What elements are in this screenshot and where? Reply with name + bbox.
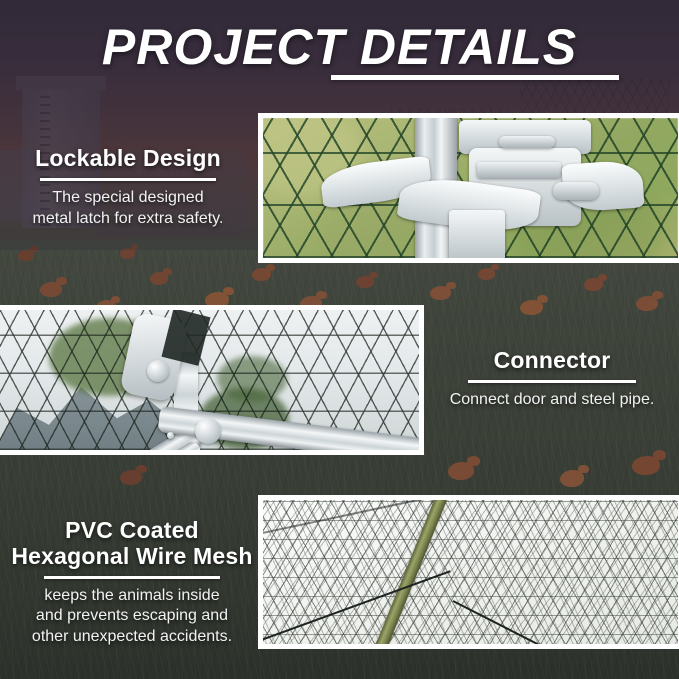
feature-body-line: The special designed — [12, 188, 244, 209]
feature-heading-underline — [40, 178, 216, 181]
title-underline — [331, 75, 619, 80]
feature-body-line: keeps the animals inside — [6, 586, 258, 607]
feature-body-line: and prevents escaping and — [6, 606, 258, 627]
latch-lock-arm — [499, 136, 555, 148]
photo-connector-content — [0, 310, 419, 450]
feature-heading-pvc-mesh-line1: PVC Coated — [6, 518, 258, 544]
page-title: PROJECT DETAILS — [0, 18, 679, 76]
feature-body-line: Connect door and steel pipe. — [432, 390, 672, 411]
photo-lockable-design — [258, 113, 679, 263]
feature-body-line: metal latch for extra safety. — [12, 209, 244, 230]
feature-heading-lockable-design: Lockable Design — [12, 146, 244, 172]
feature-heading-underline — [44, 576, 220, 579]
feature-block-pvc-mesh: PVC Coated Hexagonal Wire Mesh keeps the… — [6, 518, 258, 648]
feature-heading-connector: Connector — [432, 348, 672, 374]
latch-bracket-bottom — [449, 210, 505, 258]
feature-block-lockable-design: Lockable Design The special designed met… — [12, 146, 244, 229]
feature-heading-pvc-mesh-line2: Hexagonal Wire Mesh — [6, 544, 258, 570]
photo-pvc-hexagonal-mesh-content — [263, 500, 678, 644]
photo-pvc-hexagonal-mesh — [258, 495, 679, 649]
connector-screw — [167, 432, 174, 439]
connector-bolt-lower — [195, 418, 221, 444]
latch-pin — [553, 182, 599, 200]
connector-bolt — [147, 360, 169, 382]
latch-hasp — [477, 162, 561, 178]
feature-heading-underline — [468, 380, 636, 383]
infographic-canvas: PROJECT DETAILS Lockable Design The spec… — [0, 0, 679, 679]
feature-body-line: other unexpected accidents. — [6, 627, 258, 648]
photo-lockable-design-content — [263, 118, 678, 258]
photo-connector — [0, 305, 424, 455]
fine-hex-mesh-back — [263, 500, 678, 644]
feature-block-connector: Connector Connect door and steel pipe. — [432, 348, 672, 411]
